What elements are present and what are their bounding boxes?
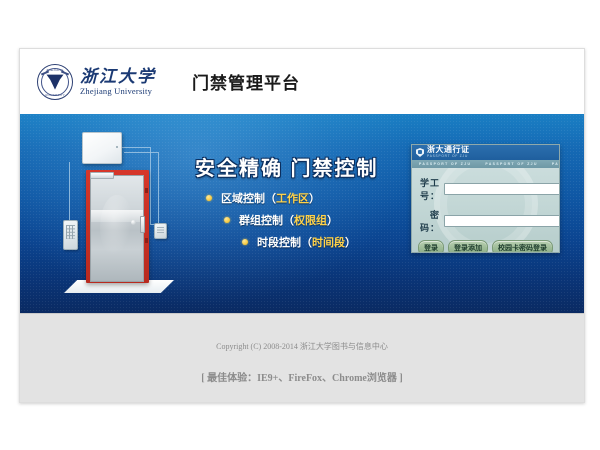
login-panel-subtitle: PASSPORT OF ZJU <box>427 155 470 158</box>
site-card: ZHEJIANG UNIVERSITY 浙江大学 Zhejiang Univer… <box>19 48 585 403</box>
door-hinge-lower <box>145 238 148 243</box>
login-button[interactable]: 登录 <box>418 240 444 253</box>
controller-box-icon <box>82 132 122 164</box>
feature-item-group-control: 群组控制 （ 权限组 ） <box>224 212 356 228</box>
campus-card-login-button[interactable]: 校园卡密码登录 <box>492 240 553 253</box>
bullet-dot-icon <box>224 217 230 223</box>
door-hinge-upper <box>145 188 148 193</box>
footer-copyright: Copyright (C) 2008-2014 浙江大学图书与信息中心 <box>20 341 584 352</box>
password-input[interactable] <box>444 215 560 227</box>
university-name-en: Zhejiang University <box>80 87 156 96</box>
university-name-block: 浙江大学 Zhejiang University <box>80 68 156 96</box>
feature-paren-close: ） <box>309 190 320 206</box>
login-row-password: 密 码： <box>420 208 551 234</box>
feature-item-time-control: 时段控制 （ 时间段 ） <box>242 234 356 250</box>
keypad-reader-icon <box>63 220 78 250</box>
login-title-stack: 浙大通行证 PASSPORT OF ZJU <box>427 146 470 158</box>
feature-highlight: 权限组 <box>294 212 327 228</box>
banner-headline: 安全精确 门禁控制 <box>195 152 379 181</box>
cable-controller-top <box>120 147 150 148</box>
feature-label: 区域控制 <box>221 190 265 206</box>
feature-label: 时段控制 <box>257 234 301 250</box>
feature-paren-close: ） <box>345 234 356 250</box>
seal-wing-left <box>41 71 49 76</box>
feature-paren-open: （ <box>283 212 294 228</box>
login-row-username: 学工号： <box>420 176 551 202</box>
door-leaf <box>90 175 144 282</box>
cable-right-vertical-2 <box>158 152 159 224</box>
door-handle-icon <box>140 216 145 233</box>
seal-arc-top-text: ZHEJIANG <box>46 68 63 72</box>
seal-bird-mark <box>47 75 64 90</box>
card-reader-face <box>157 227 164 234</box>
page-title: 门禁管理平台 <box>192 69 300 94</box>
login-button-row: 登录 登录添加 校园卡密码登录 <box>420 240 551 253</box>
door-knob-icon <box>131 220 136 225</box>
page-root: ZHEJIANG UNIVERSITY 浙江大学 Zhejiang Univer… <box>0 0 600 450</box>
site-header: ZHEJIANG UNIVERSITY 浙江大学 Zhejiang Univer… <box>20 49 584 114</box>
keypad-keys <box>66 225 75 239</box>
login-panel-title: 浙大通行证 <box>427 146 470 154</box>
banner-feature-list: 区域控制 （ 工作区 ） 群组控制 （ 权限组 ） 时段控制 （ 时间段 <box>206 190 356 256</box>
hero-banner: 安全精确 门禁控制 区域控制 （ 工作区 ） 群组控制 （ 权限组 ） <box>20 114 584 313</box>
access-control-illustration <box>44 128 179 306</box>
password-label: 密 码： <box>420 208 440 234</box>
login-panel: 浙大通行证 PASSPORT OF ZJU PASSPORT OF ZJU PA… <box>411 144 560 253</box>
username-label: 学工号： <box>420 176 440 202</box>
feature-paren-open: （ <box>265 190 276 206</box>
strip-text: PASSPORT OF ZJU <box>412 162 478 166</box>
strip-text: PASSPORT OF ZJU <box>478 162 544 166</box>
cable-controller-top-2 <box>124 152 158 153</box>
card-reader-icon <box>154 223 167 239</box>
strip-text: PASSPORT OF ZJU <box>545 162 559 166</box>
door-closer-icon <box>90 172 114 179</box>
site-footer: Copyright (C) 2008-2014 浙江大学图书与信息中心 [ 最佳… <box>20 313 584 403</box>
feature-highlight: 工作区 <box>276 190 309 206</box>
shield-icon <box>416 148 424 157</box>
login-security-strip: PASSPORT OF ZJU PASSPORT OF ZJU PASSPORT… <box>412 160 559 168</box>
cable-right-vertical <box>150 147 151 224</box>
university-logo[interactable]: ZHEJIANG UNIVERSITY 浙江大学 Zhejiang Univer… <box>37 64 156 100</box>
feature-highlight: 时间段 <box>312 234 345 250</box>
seal-arc-bottom-text: UNIVERSITY <box>45 93 65 97</box>
controller-led-icon <box>116 146 118 148</box>
username-input[interactable] <box>444 183 560 195</box>
feature-label: 群组控制 <box>239 212 283 228</box>
feature-item-area-control: 区域控制 （ 工作区 ） <box>206 190 356 206</box>
seal-wing-right <box>61 71 69 76</box>
feature-paren-close: ） <box>327 212 338 228</box>
university-name-cn: 浙江大学 <box>80 68 156 85</box>
footer-browser-note: [ 最佳体验：IE9+、FireFox、Chrome浏览器 ] <box>20 369 584 384</box>
bullet-dot-icon <box>242 239 248 245</box>
cable-controller-to-keypad <box>69 162 70 220</box>
zju-seal-icon: ZHEJIANG UNIVERSITY <box>37 64 73 100</box>
login-form: 学工号： 密 码： 登录 登录添加 校园卡密码登录 <box>412 168 559 253</box>
login-panel-header: 浙大通行证 PASSPORT OF ZJU <box>412 145 559 160</box>
login-add-button[interactable]: 登录添加 <box>448 240 488 253</box>
feature-paren-open: （ <box>301 234 312 250</box>
bullet-dot-icon <box>206 195 212 201</box>
